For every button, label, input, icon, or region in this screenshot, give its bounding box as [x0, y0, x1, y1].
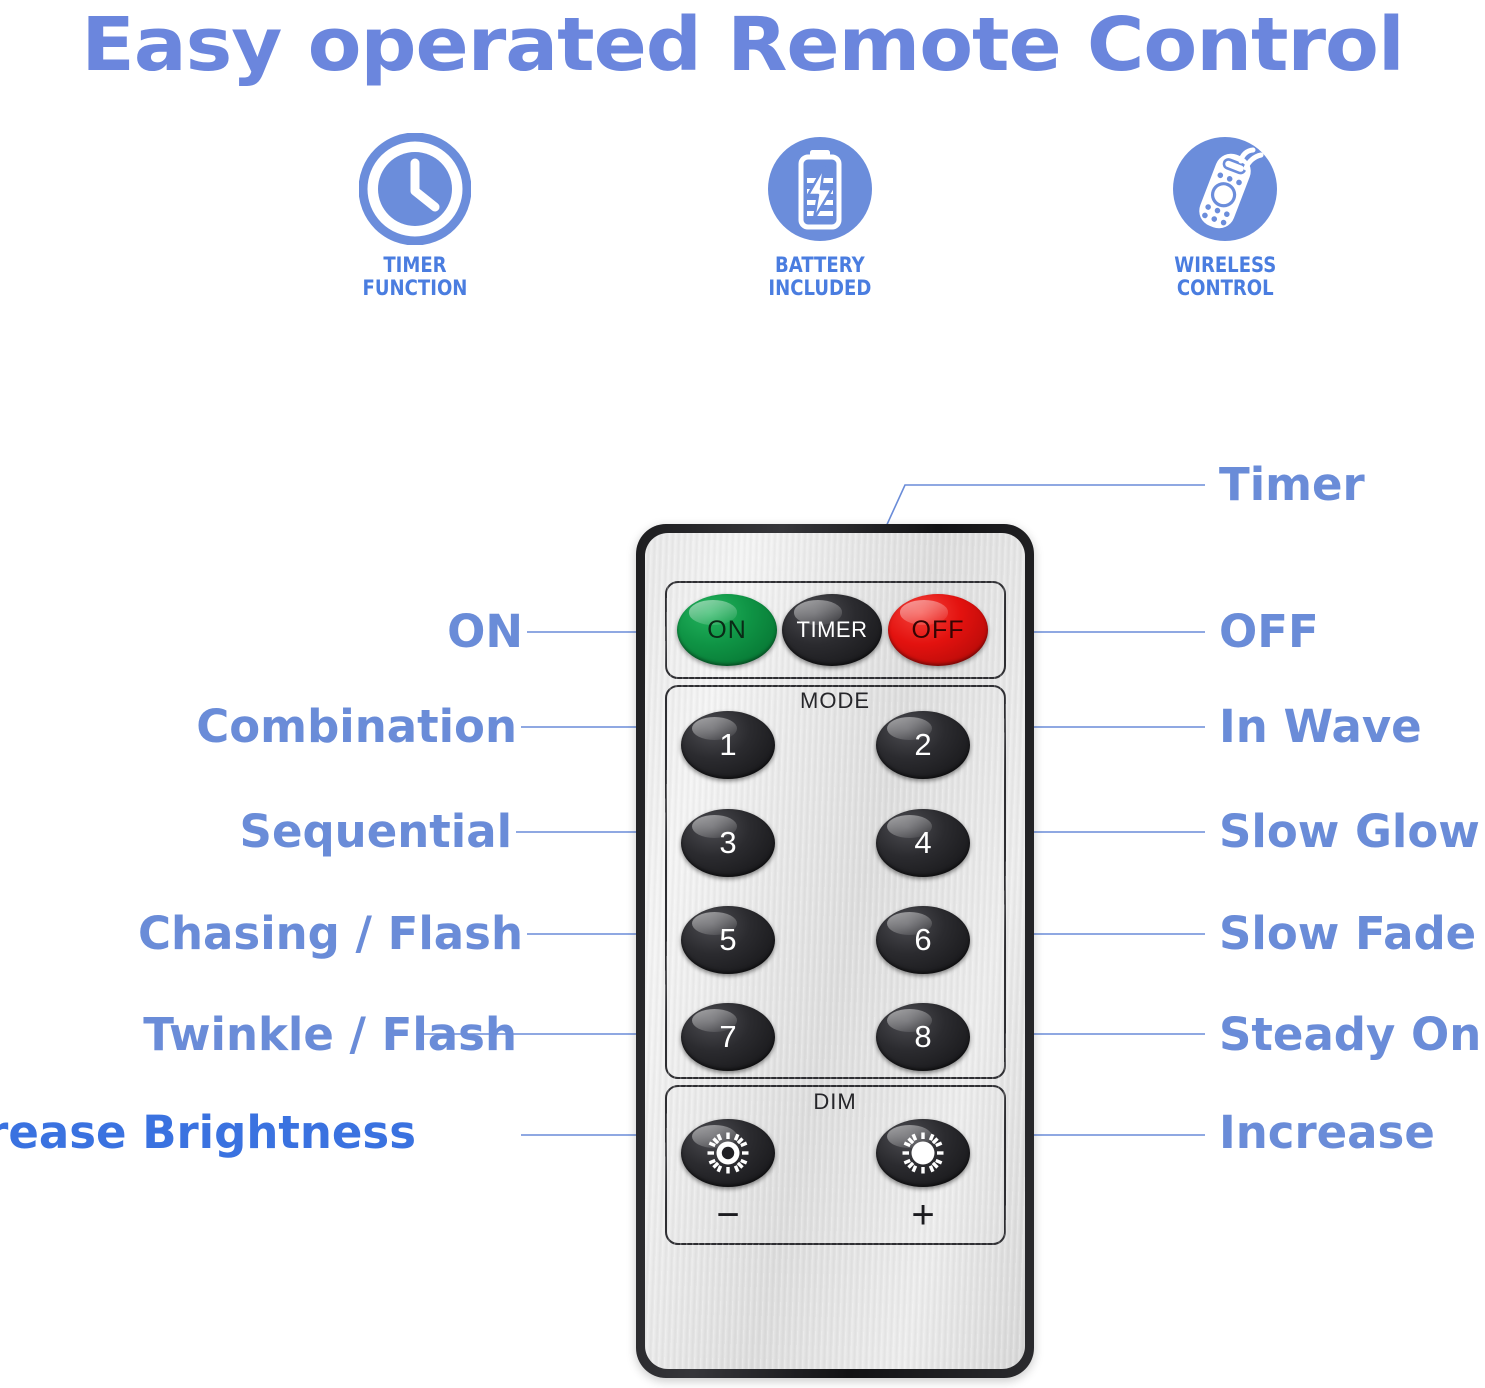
feature-timer-function: TIMERFUNCTION: [300, 133, 530, 300]
feature-badges: TIMERFUNCTION BATTERYINCLUDED: [300, 133, 1340, 323]
feature-label: TIMERFUNCTION: [363, 254, 468, 300]
page-title: Easy operated Remote Control: [0, 2, 1485, 88]
remote-button-mode-1[interactable]: 1: [681, 711, 775, 779]
remote-button-mode-4[interactable]: 4: [876, 809, 970, 877]
button-label: 1: [719, 727, 736, 763]
remote-control: MODE DIM ON TIMER OFF 1 2 3: [636, 524, 1034, 1378]
feature-battery-included: BATTERYINCLUDED: [705, 133, 935, 300]
callout-decrease-brightness: Decrease Brightness: [0, 1108, 416, 1158]
remote-button-off[interactable]: OFF: [888, 594, 988, 666]
callout-slow-glow: Slow Glow: [1219, 807, 1480, 857]
remote-button-mode-2[interactable]: 2: [876, 711, 970, 779]
clock-icon: [359, 133, 471, 245]
dim-up-sign: +: [876, 1195, 970, 1235]
battery-icon: [764, 133, 876, 245]
sun-dim-icon: [705, 1130, 751, 1176]
button-label: TIMER: [797, 617, 868, 643]
button-label: 5: [719, 922, 736, 958]
remote-signal-icon: [1169, 133, 1281, 245]
mode-caption: MODE: [645, 688, 1025, 714]
callout-off: OFF: [1219, 607, 1319, 657]
remote-button-mode-3[interactable]: 3: [681, 809, 775, 877]
remote-button-dim-up[interactable]: [876, 1119, 970, 1187]
callout-chasing-flash: Chasing / Flash: [138, 909, 523, 959]
callout-timer: Timer: [1219, 460, 1365, 510]
callout-slow-fade: Slow Fade: [1219, 909, 1476, 959]
button-label: 2: [914, 727, 931, 763]
remote-button-mode-7[interactable]: 7: [681, 1003, 775, 1071]
callout-increase: Increase: [1219, 1108, 1435, 1158]
feature-label: WIRELESSCONTROL: [1174, 254, 1276, 300]
callout-on: ON: [447, 607, 523, 657]
button-label: ON: [707, 616, 747, 645]
remote-button-dim-down[interactable]: [681, 1119, 775, 1187]
remote-button-on[interactable]: ON: [677, 594, 777, 666]
feature-label: BATTERYINCLUDED: [769, 254, 872, 300]
dim-down-sign: −: [681, 1195, 775, 1235]
remote-button-mode-8[interactable]: 8: [876, 1003, 970, 1071]
button-label: OFF: [912, 616, 965, 645]
button-label: 8: [914, 1019, 931, 1055]
remote-button-mode-5[interactable]: 5: [681, 906, 775, 974]
button-label: 7: [719, 1019, 736, 1055]
remote-faceplate: MODE DIM ON TIMER OFF 1 2 3: [645, 533, 1025, 1369]
callout-twinkle-flash: Twinkle / Flash: [143, 1010, 517, 1060]
dim-caption: DIM: [645, 1089, 1025, 1115]
callout-steady-on: Steady On: [1219, 1010, 1481, 1060]
remote-button-timer[interactable]: TIMER: [782, 594, 882, 666]
button-label: 4: [914, 825, 931, 861]
button-label: 3: [719, 825, 736, 861]
remote-button-mode-6[interactable]: 6: [876, 906, 970, 974]
callout-sequential: Sequential: [240, 807, 512, 857]
callout-combination: Combination: [196, 702, 517, 752]
sun-bright-icon: [900, 1130, 946, 1176]
button-label: 6: [914, 922, 931, 958]
callout-in-wave: In Wave: [1219, 702, 1422, 752]
feature-wireless-control: WIRELESSCONTROL: [1110, 133, 1340, 300]
